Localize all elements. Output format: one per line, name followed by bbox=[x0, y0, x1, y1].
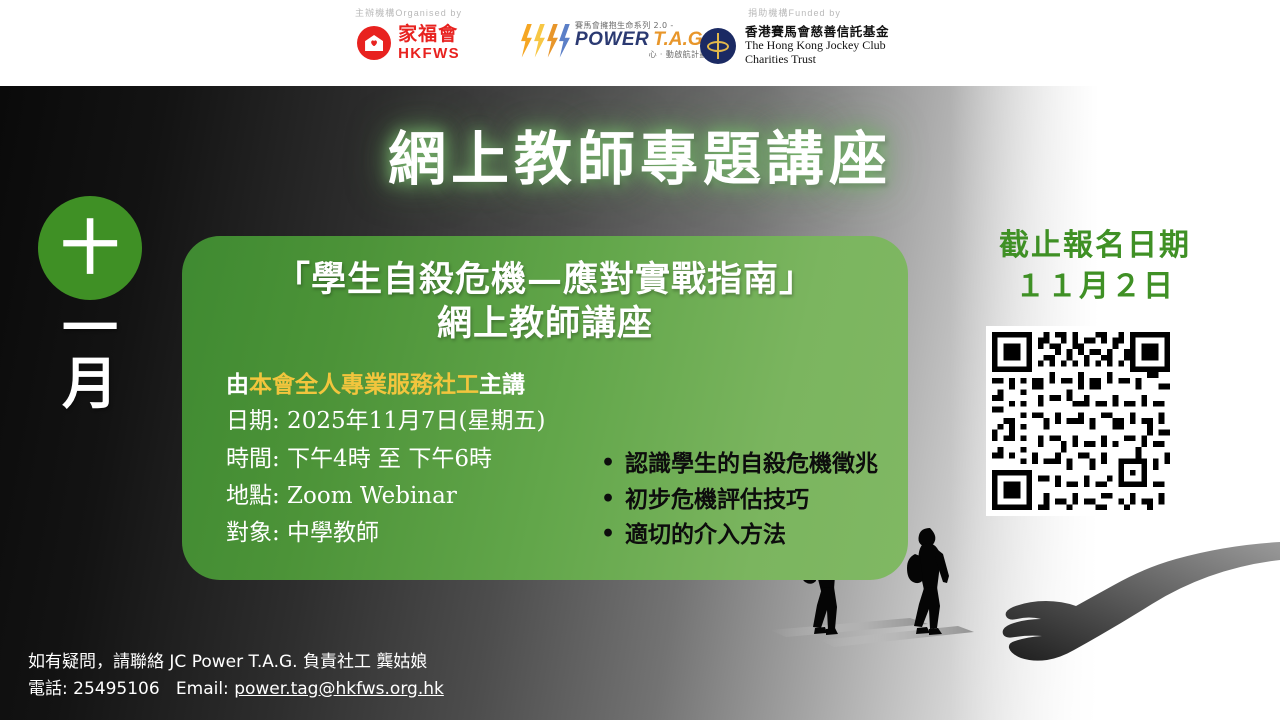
footer-phone: 電話: 25495106 bbox=[28, 679, 160, 699]
speaker-suffix: 主講 bbox=[479, 371, 525, 398]
list-item: • 適切的介入方法 bbox=[601, 517, 878, 553]
funder-logo-group: 捐助機構Funded by 香港賽馬會慈善信託基金 The Hong Kong … bbox=[700, 6, 889, 67]
power-tag-logo-group: 賽馬會擁抱生命系列 2.0 - POWER T.A.G. 心 · 動啟航計劃 bbox=[518, 6, 708, 59]
qr-code-icon bbox=[986, 326, 1176, 516]
footer-email-link[interactable]: power.tag@hkfws.org.hk bbox=[234, 679, 444, 699]
jockey-club-chinese-name: 香港賽馬會慈善信託基金 bbox=[745, 25, 889, 39]
jockey-club-emblem-icon bbox=[700, 28, 736, 64]
power-tag-spacer-caption bbox=[611, 6, 615, 16]
footer-email-label: Email: bbox=[176, 679, 229, 699]
hkfws-house-heart-icon bbox=[357, 26, 391, 60]
footer-contact-line: 如有疑問，請聯絡 JC Power T.A.G. 負責社工 龔姑娘 bbox=[28, 649, 444, 675]
deadline-label: 截止報名日期 bbox=[950, 226, 1240, 267]
lightning-bolt-icon bbox=[518, 23, 570, 59]
event-info-card: 「學生自殺危機—應對實戰指南」 網上教師講座 由本會全人專業服務社工主講 日期:… bbox=[182, 236, 908, 580]
topic-label: 適切的介入方法 bbox=[625, 517, 786, 553]
hkfws-chinese-name: 家福會 bbox=[398, 25, 460, 44]
event-title-line1: 「學生自殺危機—應對實戰指南」 bbox=[212, 258, 878, 302]
event-time: 時間: 下午4時 至 下午6時 bbox=[226, 441, 599, 478]
bullet-dot-icon: • bbox=[601, 517, 615, 551]
topic-label: 初步危機評估技巧 bbox=[625, 482, 809, 518]
jockey-club-wordmark: 香港賽馬會慈善信託基金 The Hong Kong Jockey Club Ch… bbox=[745, 25, 889, 67]
page-title: 網上教師專題講座 bbox=[0, 112, 1280, 196]
open-hand-graphic bbox=[1003, 542, 1280, 661]
hkfws-wordmark: 家福會 HKFWS bbox=[398, 25, 460, 61]
hkfws-english-name: HKFWS bbox=[398, 46, 460, 61]
funder-caption: 捐助機構Funded by bbox=[748, 6, 841, 19]
month-char-ten: 十 bbox=[61, 219, 119, 277]
jockey-club-english-line1: The Hong Kong Jockey Club bbox=[745, 39, 889, 53]
speaker-highlight: 本會全人專業服務社工 bbox=[249, 371, 479, 398]
event-title-line2: 網上教師講座 bbox=[212, 302, 878, 346]
hkfws-logo: 家福會 HKFWS bbox=[357, 25, 460, 61]
power-tag-logo: 賽馬會擁抱生命系列 2.0 - POWER T.A.G. 心 · 動啟航計劃 bbox=[518, 22, 708, 59]
event-venue: 地點: Zoom Webinar bbox=[226, 478, 599, 515]
student-silhouette-b bbox=[907, 528, 949, 635]
bullet-dot-icon: • bbox=[601, 446, 615, 480]
poster-canvas: 主辦機構Organised by 家福會 HKFWS 賽馬會擁抱 bbox=[0, 0, 1280, 720]
bullet-dot-icon: • bbox=[601, 482, 615, 516]
event-audience: 對象: 中學教師 bbox=[226, 515, 599, 552]
event-speaker-line: 由本會全人專業服務社工主講 bbox=[226, 366, 599, 403]
event-title: 「學生自殺危機—應對實戰指南」 網上教師講座 bbox=[212, 258, 878, 346]
power-word: POWER bbox=[575, 30, 649, 49]
list-item: • 初步危機評估技巧 bbox=[601, 482, 878, 518]
event-topics-list: • 認識學生的自殺危機徵兆 • 初步危機評估技巧 • 適切的介入方法 bbox=[599, 366, 878, 553]
organiser-logo-group: 主辦機構Organised by 家福會 HKFWS bbox=[355, 6, 462, 61]
jockey-club-english-line2: Charities Trust bbox=[745, 53, 889, 67]
month-badge: 十 一月 bbox=[38, 196, 142, 412]
registration-qr-code[interactable] bbox=[986, 326, 1176, 516]
topic-label: 認識學生的自殺危機徵兆 bbox=[625, 446, 878, 482]
registration-deadline: 截止報名日期 １１月２日 bbox=[950, 226, 1240, 307]
power-tag-subtitle: 心 · 動啟航計劃 bbox=[575, 51, 708, 59]
deadline-date: １１月２日 bbox=[950, 267, 1240, 308]
power-tag-wordmark: 賽馬會擁抱生命系列 2.0 - POWER T.A.G. 心 · 動啟航計劃 bbox=[575, 22, 708, 59]
speaker-prefix: 由 bbox=[226, 371, 249, 398]
footer-contact: 如有疑問，請聯絡 JC Power T.A.G. 負責社工 龔姑娘 電話: 25… bbox=[28, 649, 444, 702]
list-item: • 認識學生的自殺危機徵兆 bbox=[601, 446, 878, 482]
jockey-club-logo: 香港賽馬會慈善信託基金 The Hong Kong Jockey Club Ch… bbox=[700, 25, 889, 67]
month-circle: 十 bbox=[38, 196, 142, 300]
event-date: 日期: 2025年11月7日(星期五) bbox=[226, 403, 599, 440]
event-body: 由本會全人專業服務社工主講 日期: 2025年11月7日(星期五) 時間: 下午… bbox=[212, 366, 878, 553]
event-details-list: 由本會全人專業服務社工主講 日期: 2025年11月7日(星期五) 時間: 下午… bbox=[212, 366, 599, 553]
month-char-one-month: 一月 bbox=[38, 302, 142, 412]
footer-phone-email-line: 電話: 25495106 Email: power.tag@hkfws.org.… bbox=[28, 676, 444, 702]
sponsor-header-bar: 主辦機構Organised by 家福會 HKFWS 賽馬會擁抱 bbox=[0, 0, 1280, 86]
power-tag-main-line: POWER T.A.G. bbox=[575, 30, 708, 49]
organiser-caption: 主辦機構Organised by bbox=[355, 6, 462, 19]
